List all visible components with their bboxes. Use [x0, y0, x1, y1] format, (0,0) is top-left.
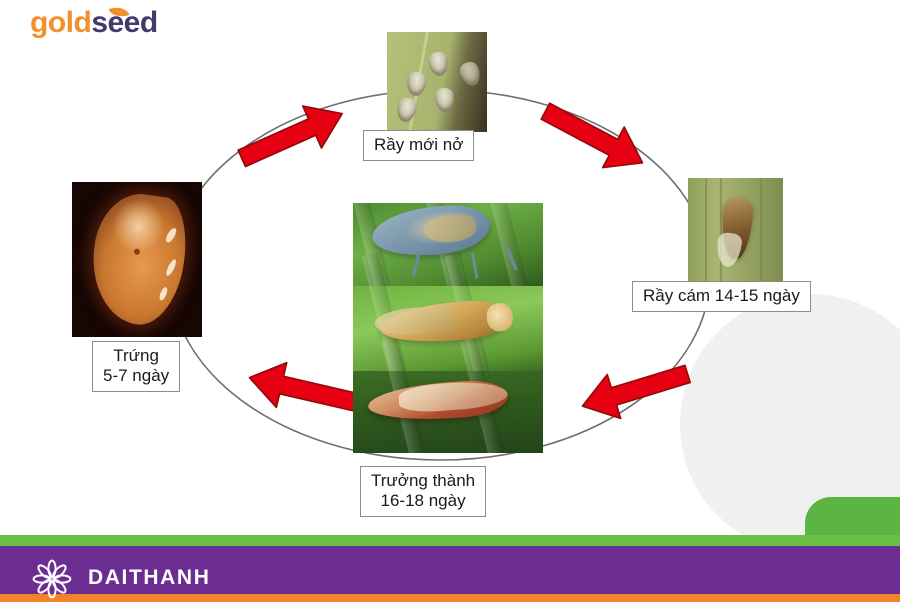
egg-photo: [72, 182, 202, 337]
brand-bar-green-stripe: [0, 535, 900, 546]
adult-planthoppers-photo: [353, 203, 543, 453]
egg-tip-2: [164, 258, 177, 277]
egg-tip-1: [164, 227, 178, 244]
egg-tip-3: [158, 286, 169, 301]
newly-hatched-nymphs-photo: [387, 32, 487, 132]
adult-head: [485, 302, 513, 332]
flower-icon: [32, 559, 72, 599]
stage-label-egg: Trứng 5-7 ngày: [92, 341, 180, 392]
stage-label-hatch: Rầy mới nở: [363, 130, 474, 161]
stage-label-nymph: Rầy cám 14-15 ngày: [632, 281, 811, 312]
stem-line: [760, 178, 762, 283]
stage-label-adult: Trưởng thành 16-18 ngày: [360, 466, 486, 517]
stem-line: [705, 178, 707, 283]
life-cycle-diagram: Rầy mới nở Rầy cám 14-15 ngày Trứng 5-7 …: [0, 0, 900, 525]
egg-cluster-shape: [84, 189, 192, 331]
nymph-photo: [688, 178, 783, 283]
nymph-wing-pattern: [422, 212, 477, 245]
stem-line: [720, 178, 722, 283]
brand-bar: DAITHANH: [0, 535, 900, 602]
insect-leg: [471, 252, 478, 278]
arrow-hatch-to-nymph: [535, 91, 654, 183]
egg-spot: [133, 248, 140, 255]
brand-bar-orange-stripe: [0, 594, 900, 602]
brand-name-text: DAITHANH: [88, 566, 210, 590]
